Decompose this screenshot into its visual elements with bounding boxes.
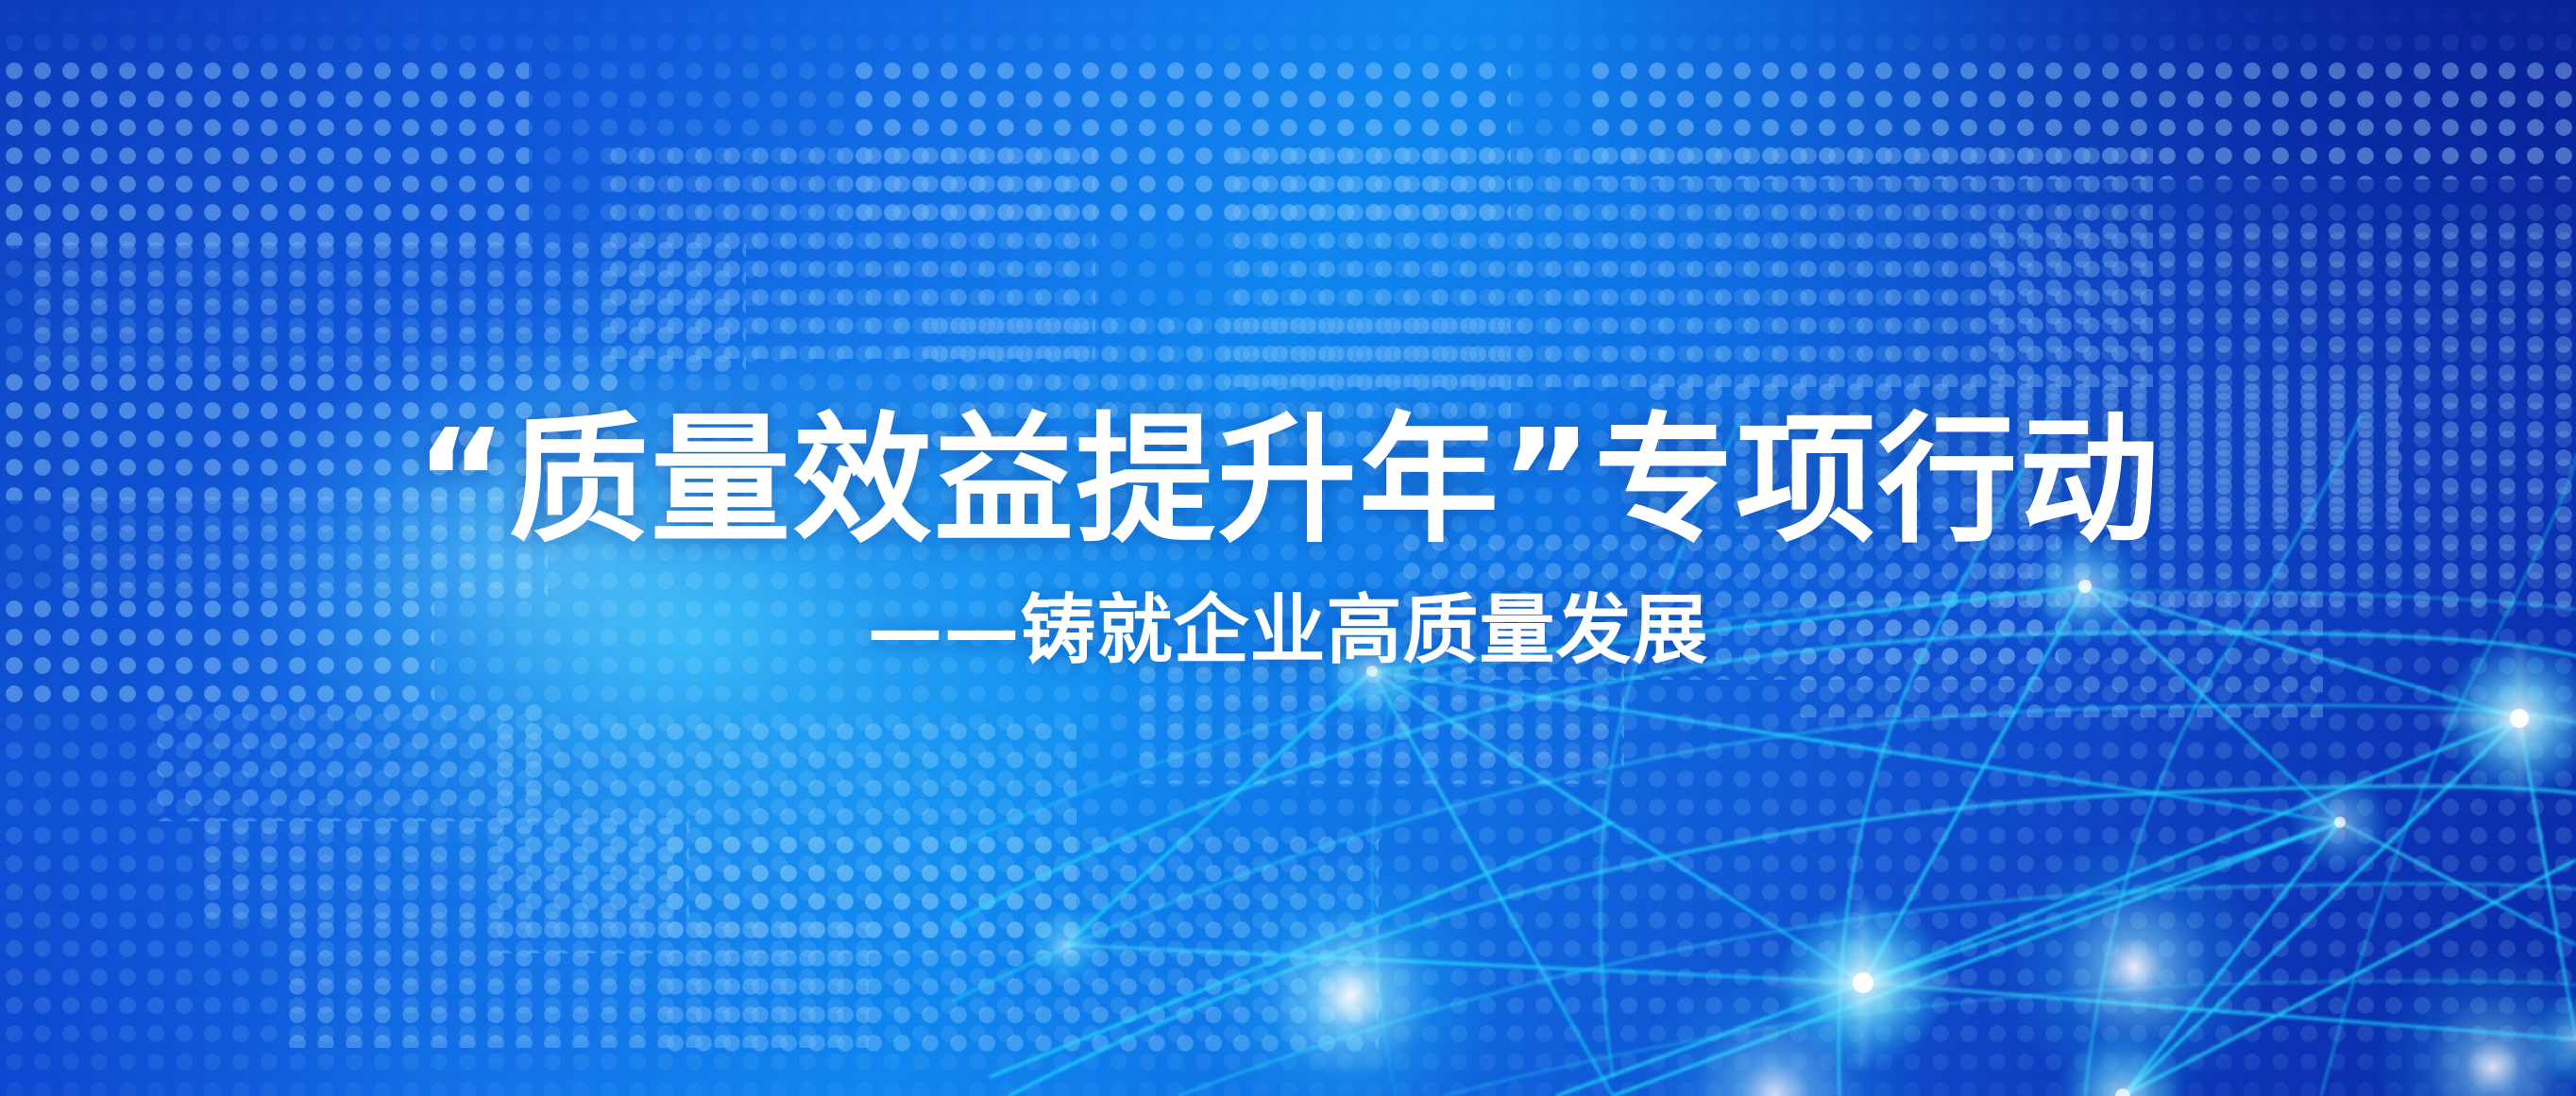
page-title: “质量效益提升年”专项行动 (0, 406, 2576, 557)
promo-banner: “质量效益提升年”专项行动 ——铸就企业高质量发展 (0, 0, 2576, 1096)
page-subtitle: ——铸就企业高质量发展 (0, 589, 2576, 672)
headline-block: “质量效益提升年”专项行动 ——铸就企业高质量发展 (0, 406, 2576, 672)
